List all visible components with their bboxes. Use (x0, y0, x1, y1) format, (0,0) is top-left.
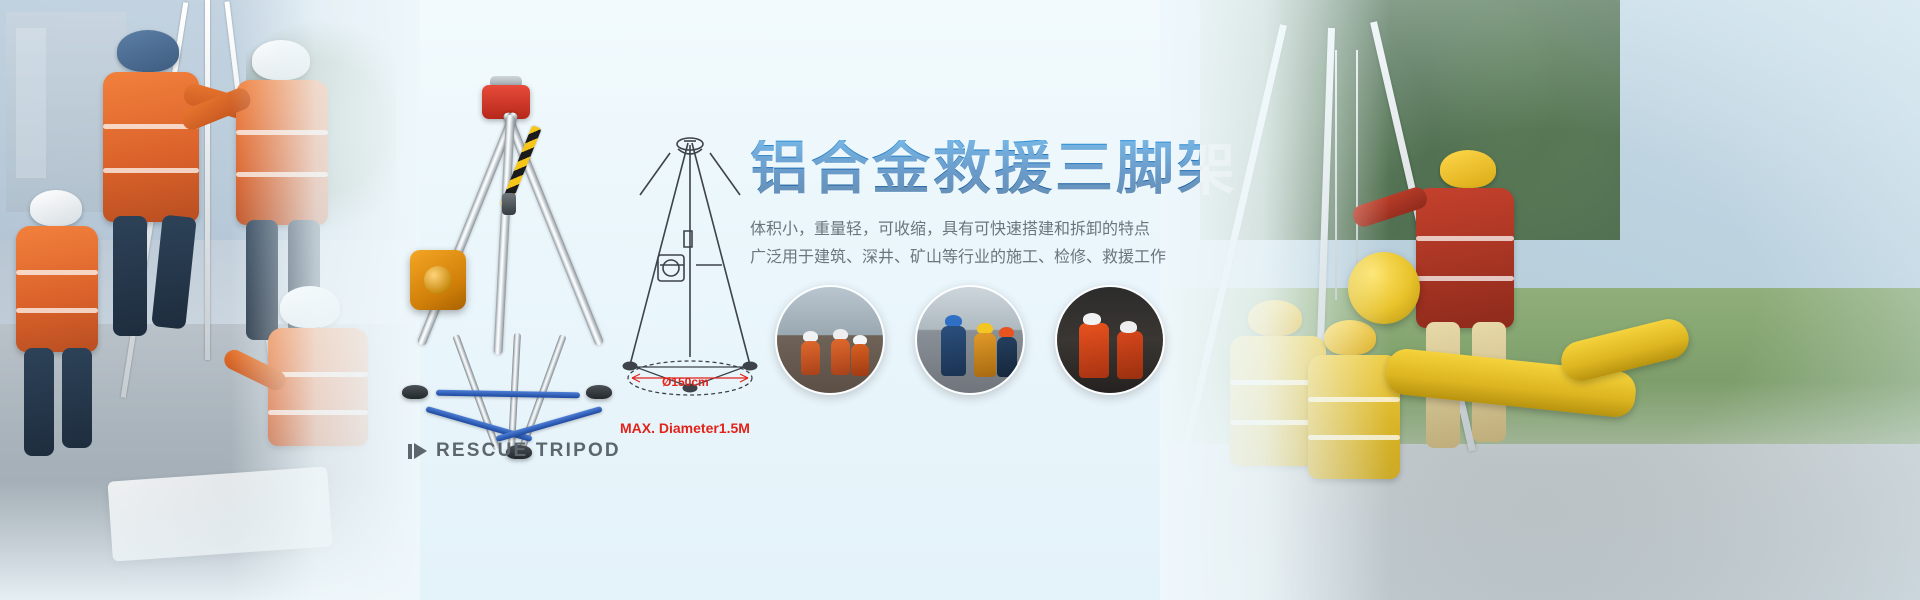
helmet-icon (117, 30, 179, 72)
thumbnail-figure (831, 339, 850, 375)
page-title: 铝合金救援三脚架 (750, 140, 1200, 198)
thumbnail-row (775, 285, 1165, 395)
thumbnail-figure (974, 333, 996, 377)
helmet-icon (30, 190, 82, 226)
tripod-foot (402, 385, 428, 399)
worker-leg (113, 216, 147, 336)
tripod-winch (410, 250, 466, 310)
left-photo-collage (0, 0, 420, 600)
play-triangle-icon (408, 443, 427, 459)
product-label-text: RESCUE TRIPOD (436, 440, 621, 462)
worker-body (16, 226, 98, 352)
thumbnail-figure (1079, 323, 1109, 378)
thumbnail-figure (801, 341, 820, 375)
subtitle-block: 体积小，重量轻，可收缩，具有可快速搭建和拆卸的特点 广泛用于建筑、深井、矿山等行… (750, 216, 1200, 272)
helmet-icon (1083, 313, 1101, 325)
product-label: RESCUE TRIPOD (408, 440, 621, 462)
thumbnail-inspection[interactable] (915, 285, 1025, 395)
worker-leg (62, 348, 92, 448)
promotional-banner: RESCUE TRIPOD (0, 0, 1920, 600)
thumbnail-figure (851, 344, 869, 376)
right-photo-left-fade (1160, 0, 1390, 600)
thumbnail-figure (997, 337, 1017, 377)
left-photo-tripod-leg (205, 0, 210, 360)
thumbnail-figure (1117, 331, 1143, 379)
thumbnail-confined-space[interactable] (1055, 285, 1165, 395)
worker-leg (24, 348, 54, 456)
copy-block: 铝合金救援三脚架 体积小，重量轻，可收缩，具有可快速搭建和拆卸的特点 广泛用于建… (750, 140, 1200, 272)
thumbnail-figure (941, 326, 966, 376)
product-photo-tripod (390, 85, 620, 465)
tripod-base-bar (436, 390, 580, 399)
tripod-leg (502, 111, 604, 346)
subtitle-line-1: 体积小，重量轻，可收缩，具有可快速搭建和拆卸的特点 (750, 216, 1200, 244)
subtitle-line-2: 广泛用于建筑、深井、矿山等行业的施工、检修、救援工作 (750, 244, 1200, 272)
right-photo-collage (1160, 0, 1920, 600)
thumbnail-rescue-team[interactable] (775, 285, 885, 395)
dimension-small-label: Ø150cm (662, 375, 709, 389)
tripod-pulley (502, 193, 516, 215)
helmet-icon (1120, 321, 1137, 333)
dimension-main-label: MAX. Diameter1.5M (620, 420, 750, 436)
